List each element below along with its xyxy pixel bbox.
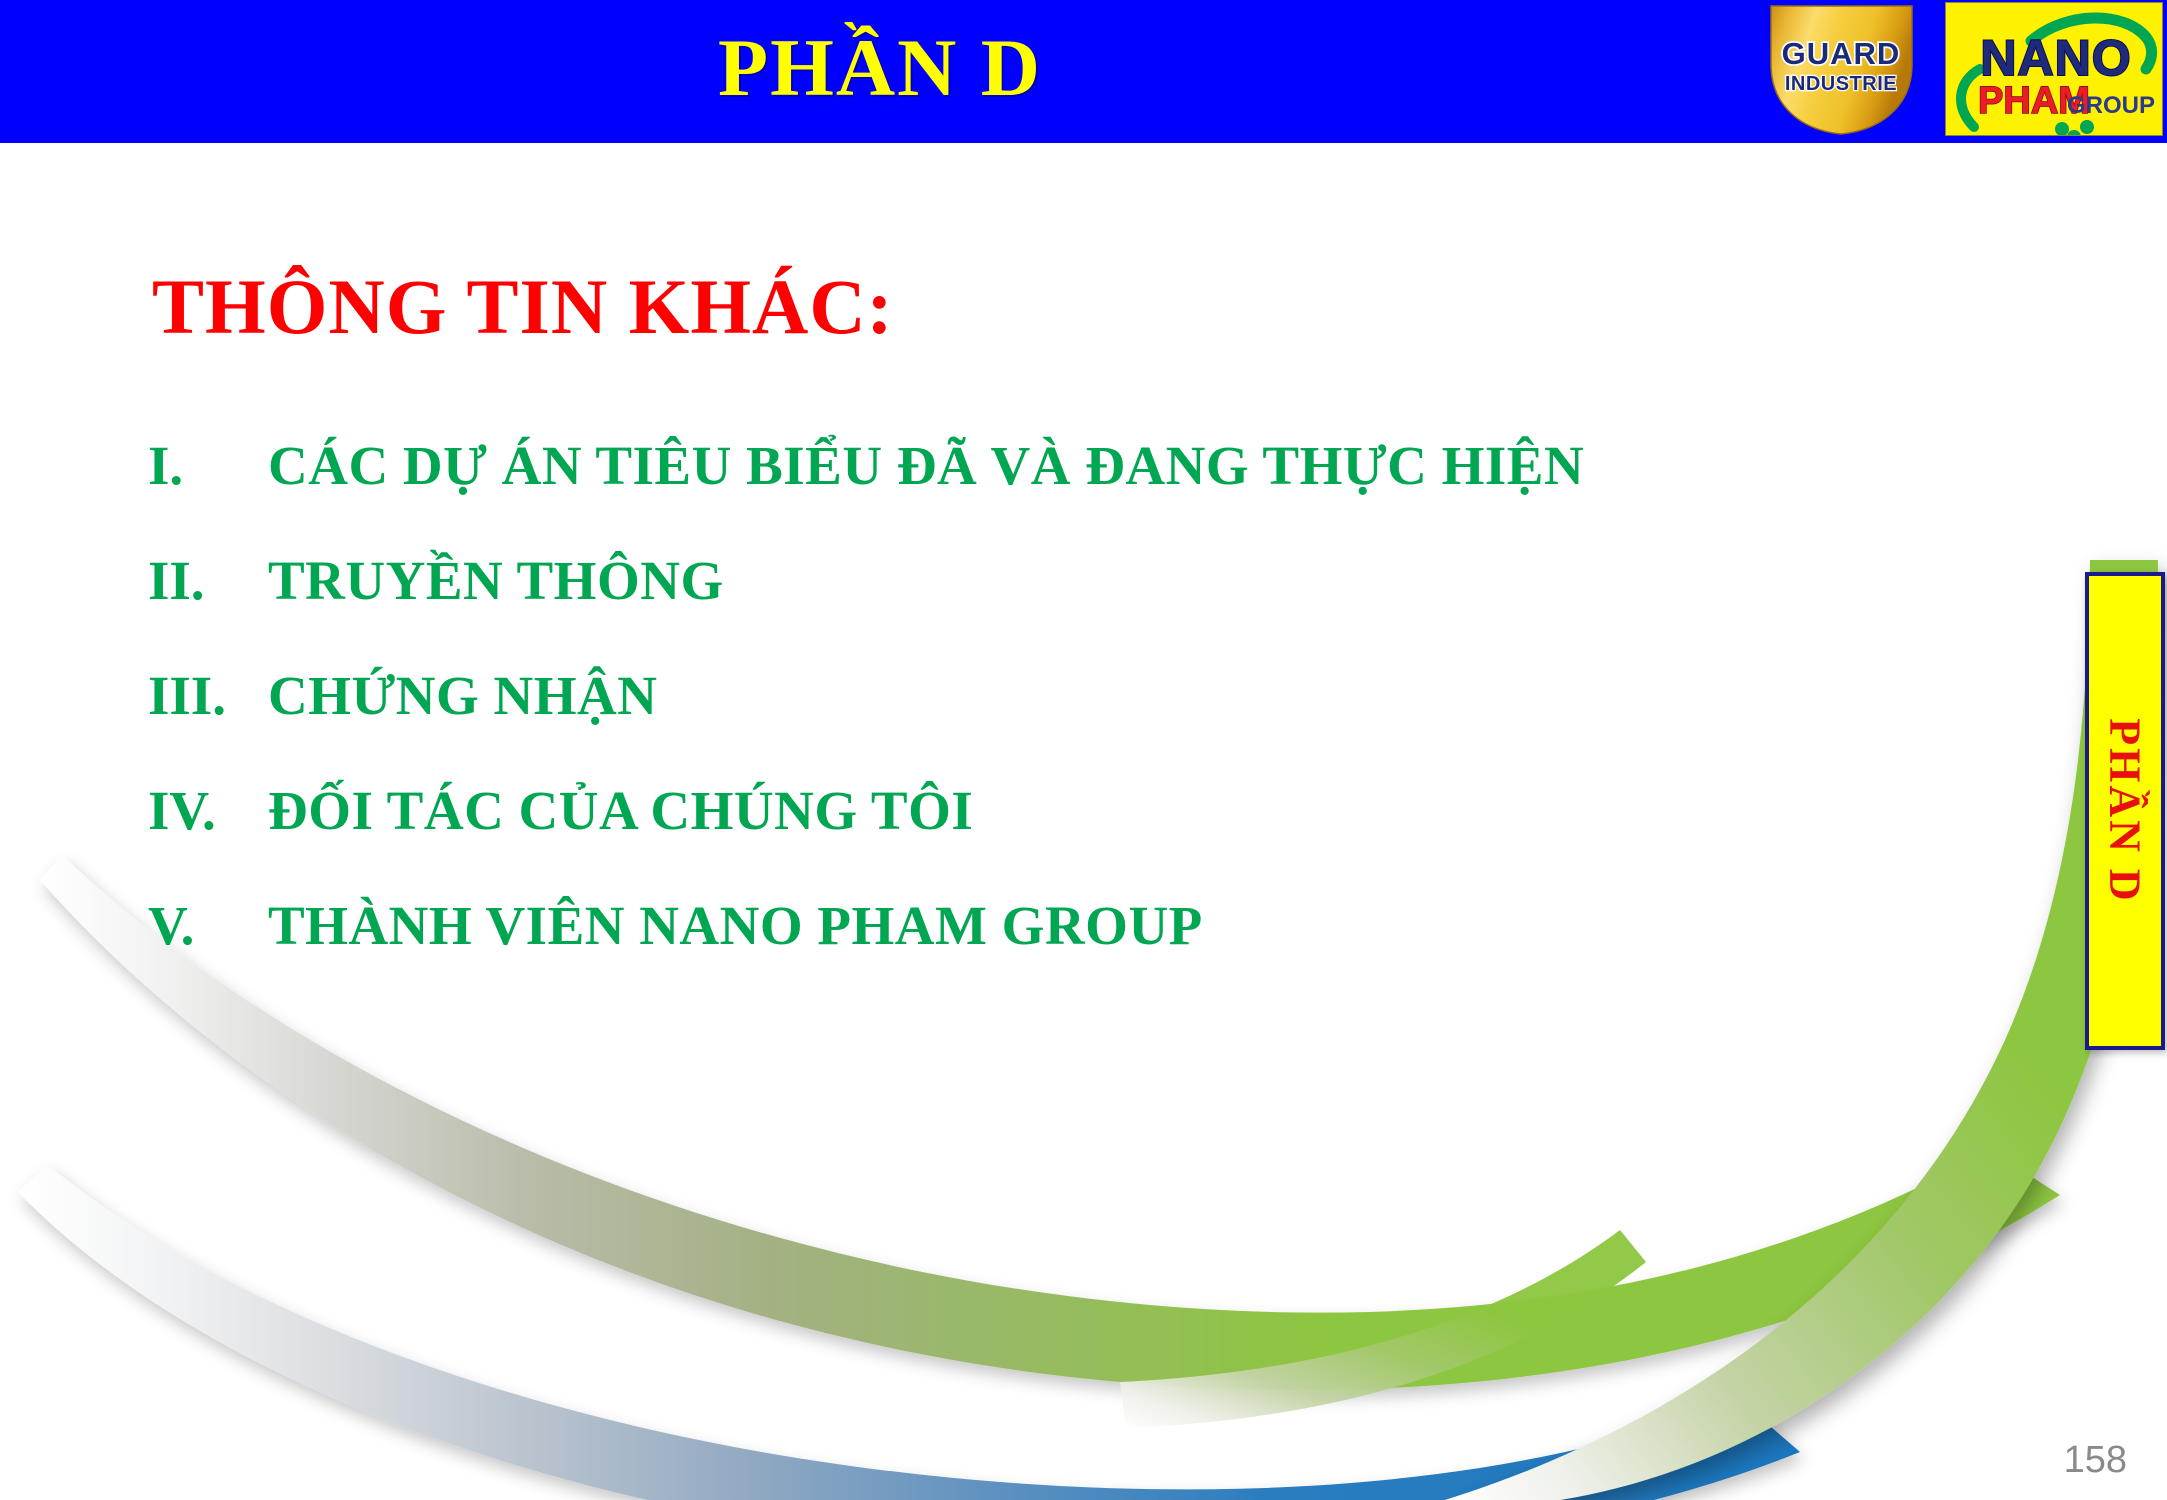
- outline-list: I. CÁC DỰ ÁN TIÊU BIỂU ĐÃ VÀ ĐANG THỰC H…: [148, 408, 2028, 983]
- list-item-label: ĐỐI TÁC CỦA CHÚNG TÔI: [268, 783, 973, 838]
- list-item-label: THÀNH VIÊN NANO PHAM GROUP: [268, 898, 1203, 953]
- list-item-marker: II.: [148, 553, 268, 608]
- svg-text:GROUP: GROUP: [2067, 92, 2155, 119]
- list-item-label: CHỨNG NHẬN: [268, 668, 657, 723]
- section-side-tab[interactable]: PHẦN D: [2085, 572, 2165, 1050]
- svg-text:GUARD: GUARD: [1782, 36, 1901, 71]
- svg-text:INDUSTRIE: INDUSTRIE: [1785, 73, 1897, 95]
- list-item-label: CÁC DỰ ÁN TIÊU BIỂU ĐÃ VÀ ĐANG THỰC HIỆN: [268, 438, 1584, 493]
- nano-pham-group-logo: NANO PHAM GROUP NANO PHAM GROUP: [1945, 2, 2163, 136]
- list-item-label: TRUYỀN THÔNG: [268, 553, 724, 608]
- guard-shield-icon: GUARD INDUSTRIE: [1753, 2, 1930, 136]
- section-heading: THÔNG TIN KHÁC:: [152, 268, 894, 346]
- list-item[interactable]: V. THÀNH VIÊN NANO PHAM GROUP: [148, 868, 2028, 983]
- list-item-marker: V.: [148, 898, 268, 953]
- slide-body: THÔNG TIN KHÁC: I. CÁC DỰ ÁN TIÊU BIỂU Đ…: [0, 143, 2167, 1500]
- slide-canvas: PHẦN D GUARD INDUSTRIE GUARD INDUSTRIE: [0, 0, 2167, 1500]
- section-side-tab-label: PHẦN D: [2100, 718, 2151, 903]
- header-bar-underline: [0, 136, 2167, 143]
- svg-text:NANO: NANO: [1980, 30, 2131, 86]
- list-item-marker: I.: [148, 438, 268, 493]
- nano-pham-logo-icon: NANO PHAM GROUP: [1946, 3, 2163, 136]
- list-item[interactable]: II. TRUYỀN THÔNG: [148, 523, 2028, 638]
- list-item-marker: IV.: [148, 783, 268, 838]
- list-item-marker: III.: [148, 668, 268, 723]
- list-item[interactable]: III. CHỨNG NHẬN: [148, 638, 2028, 753]
- list-item[interactable]: IV. ĐỐI TÁC CỦA CHÚNG TÔI: [148, 753, 2028, 868]
- list-item[interactable]: I. CÁC DỰ ÁN TIÊU BIỂU ĐÃ VÀ ĐANG THỰC H…: [148, 408, 2028, 523]
- page-title: PHẦN D: [0, 0, 1760, 136]
- guard-industrie-logo: GUARD INDUSTRIE GUARD INDUSTRIE: [1753, 2, 1930, 136]
- page-number: 158: [2064, 1439, 2127, 1482]
